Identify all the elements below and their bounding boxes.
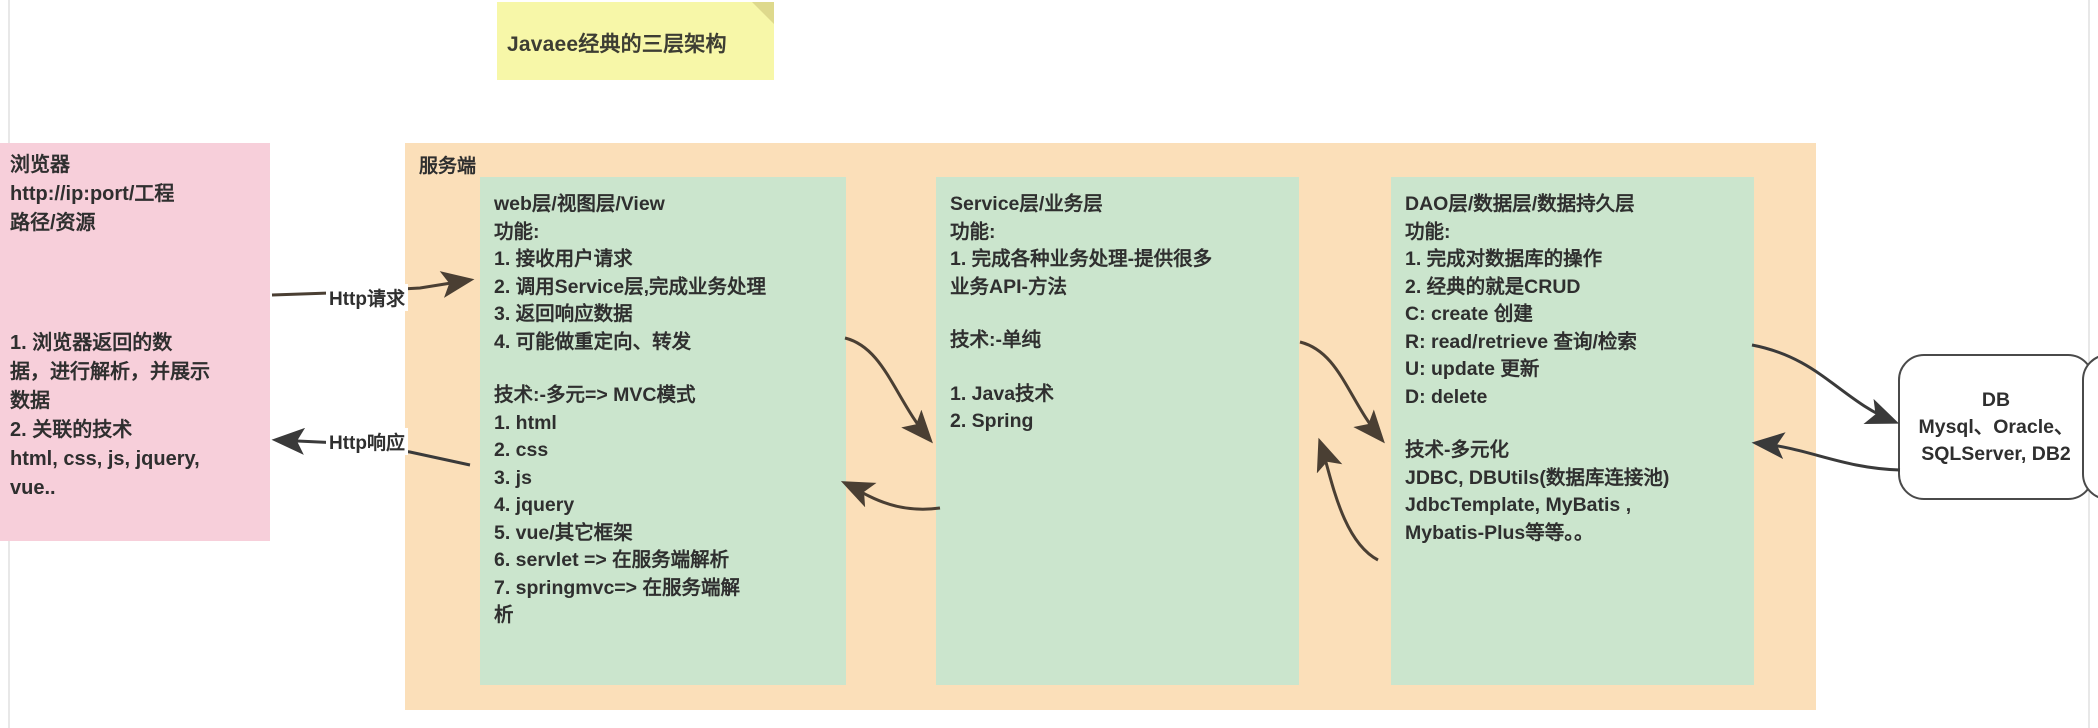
browser-address-text: 浏览器 http://ip:port/工程 路径/资源 bbox=[10, 151, 266, 238]
layer-web: web层/视图层/View 功能: 1. 接收用户请求 2. 调用Service… bbox=[480, 177, 846, 685]
database-box: DB Mysql、Oracle、 SQLServer, DB2 bbox=[1898, 354, 2094, 500]
title-sticky-note: Javaee经典的三层架构 bbox=[497, 2, 774, 80]
dao-layer-heading: DAO层/数据层/数据持久层 功能: 1. 完成对数据库的操作 2. 经典的就是… bbox=[1405, 191, 1742, 411]
service-layer-heading: Service层/业务层 功能: 1. 完成各种业务处理-提供很多 业务API-… bbox=[950, 191, 1287, 301]
web-layer-tech: 技术:-多元=> MVC模式 1. html 2. css 3. js 4. j… bbox=[494, 382, 834, 630]
dao-layer-tech: 技术-多元化 JDBC, DBUtils(数据库连接池) JdbcTemplat… bbox=[1405, 437, 1742, 547]
service-layer-spacer-2 bbox=[950, 355, 1287, 381]
layer-service: Service层/业务层 功能: 1. 完成各种业务处理-提供很多 业务API-… bbox=[936, 177, 1299, 685]
server-label: 服务端 bbox=[419, 151, 476, 178]
browser-notes-text: 1. 浏览器返回的数 据，进行解析，并展示 数据 2. 关联的技术 html, … bbox=[10, 329, 266, 503]
service-layer-spacer-1 bbox=[950, 301, 1287, 327]
browser-box: 浏览器 http://ip:port/工程 路径/资源 1. 浏览器返回的数 据… bbox=[0, 143, 270, 541]
diagram-title: Javaee经典的三层架构 bbox=[507, 28, 765, 58]
label-http-request: Http请求 bbox=[326, 284, 408, 311]
label-http-response: Http响应 bbox=[326, 428, 408, 455]
service-layer-tech: 技术:-单纯 bbox=[950, 327, 1287, 355]
dao-layer-spacer bbox=[1405, 411, 1742, 437]
sticky-fold-corner-icon bbox=[752, 2, 774, 24]
database-label: DB Mysql、Oracle、 SQLServer, DB2 bbox=[1919, 387, 2074, 468]
service-layer-tech-list: 1. Java技术 2. Spring bbox=[950, 381, 1287, 436]
web-layer-spacer bbox=[494, 356, 834, 382]
web-layer-heading: web层/视图层/View 功能: 1. 接收用户请求 2. 调用Service… bbox=[494, 191, 834, 356]
layer-dao: DAO层/数据层/数据持久层 功能: 1. 完成对数据库的操作 2. 经典的就是… bbox=[1391, 177, 1754, 685]
diagram-canvas: Javaee经典的三层架构 浏览器 http://ip:port/工程 路径/资… bbox=[0, 0, 2098, 728]
database-box-secondary bbox=[2082, 354, 2098, 500]
server-container: 服务端 web层/视图层/View 功能: 1. 接收用户请求 2. 调用Ser… bbox=[405, 143, 1816, 710]
